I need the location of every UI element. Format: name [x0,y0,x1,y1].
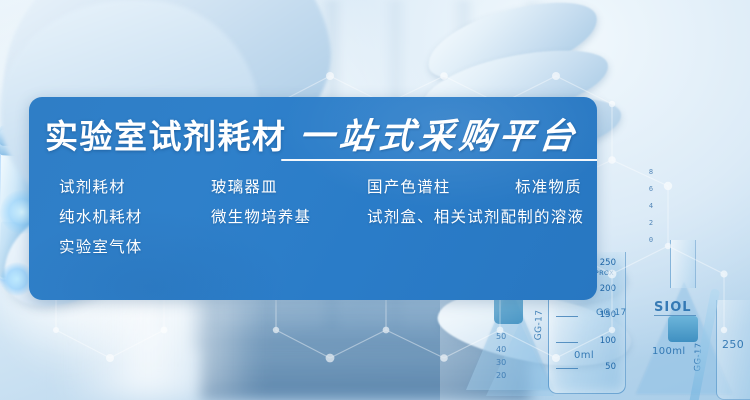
headline-brush-text: 一站式采购平台 [296,116,580,158]
headline: 实验室试剂耗材 一站式采购平台 [45,116,579,158]
category-item-water-purifier-consumables[interactable]: 纯水机耗材 [59,205,143,227]
laboratory-banner: 8 6 4 2 0 50 40 30 20 250 APPROX 200 150… [0,0,750,400]
category-item-reagent-kits-and-solutions[interactable]: 试剂盒、相关试剂配制的溶液 [367,205,584,227]
category-row: 纯水机耗材 微生物培养基 试剂盒、相关试剂配制的溶液 [45,205,595,235]
headline-brush-wrap: 一站式采购平台 [299,116,579,158]
category-item-reagent-consumables[interactable]: 试剂耗材 [59,175,126,197]
category-item-domestic-chromatography-column[interactable]: 国产色谱柱 [367,175,451,197]
headline-underline [281,159,597,161]
category-item-glassware[interactable]: 玻璃器皿 [211,175,278,197]
category-item-reference-material[interactable]: 标准物质 [515,175,582,197]
category-item-microbial-culture-medium[interactable]: 微生物培养基 [211,205,311,227]
category-row: 试剂耗材 玻璃器皿 国产色谱柱 标准物质 [45,175,595,205]
headline-main-text: 实验室试剂耗材 [45,116,287,158]
category-row: 实验室气体 [45,235,595,265]
category-grid: 试剂耗材 玻璃器皿 国产色谱柱 标准物质 纯水机耗材 微生物培养基 试剂盒、相关… [45,175,595,265]
category-item-laboratory-gas[interactable]: 实验室气体 [59,235,143,257]
promo-panel: 实验室试剂耗材 一站式采购平台 试剂耗材 玻璃器皿 国产色谱柱 标准物质 纯水机… [29,97,597,300]
